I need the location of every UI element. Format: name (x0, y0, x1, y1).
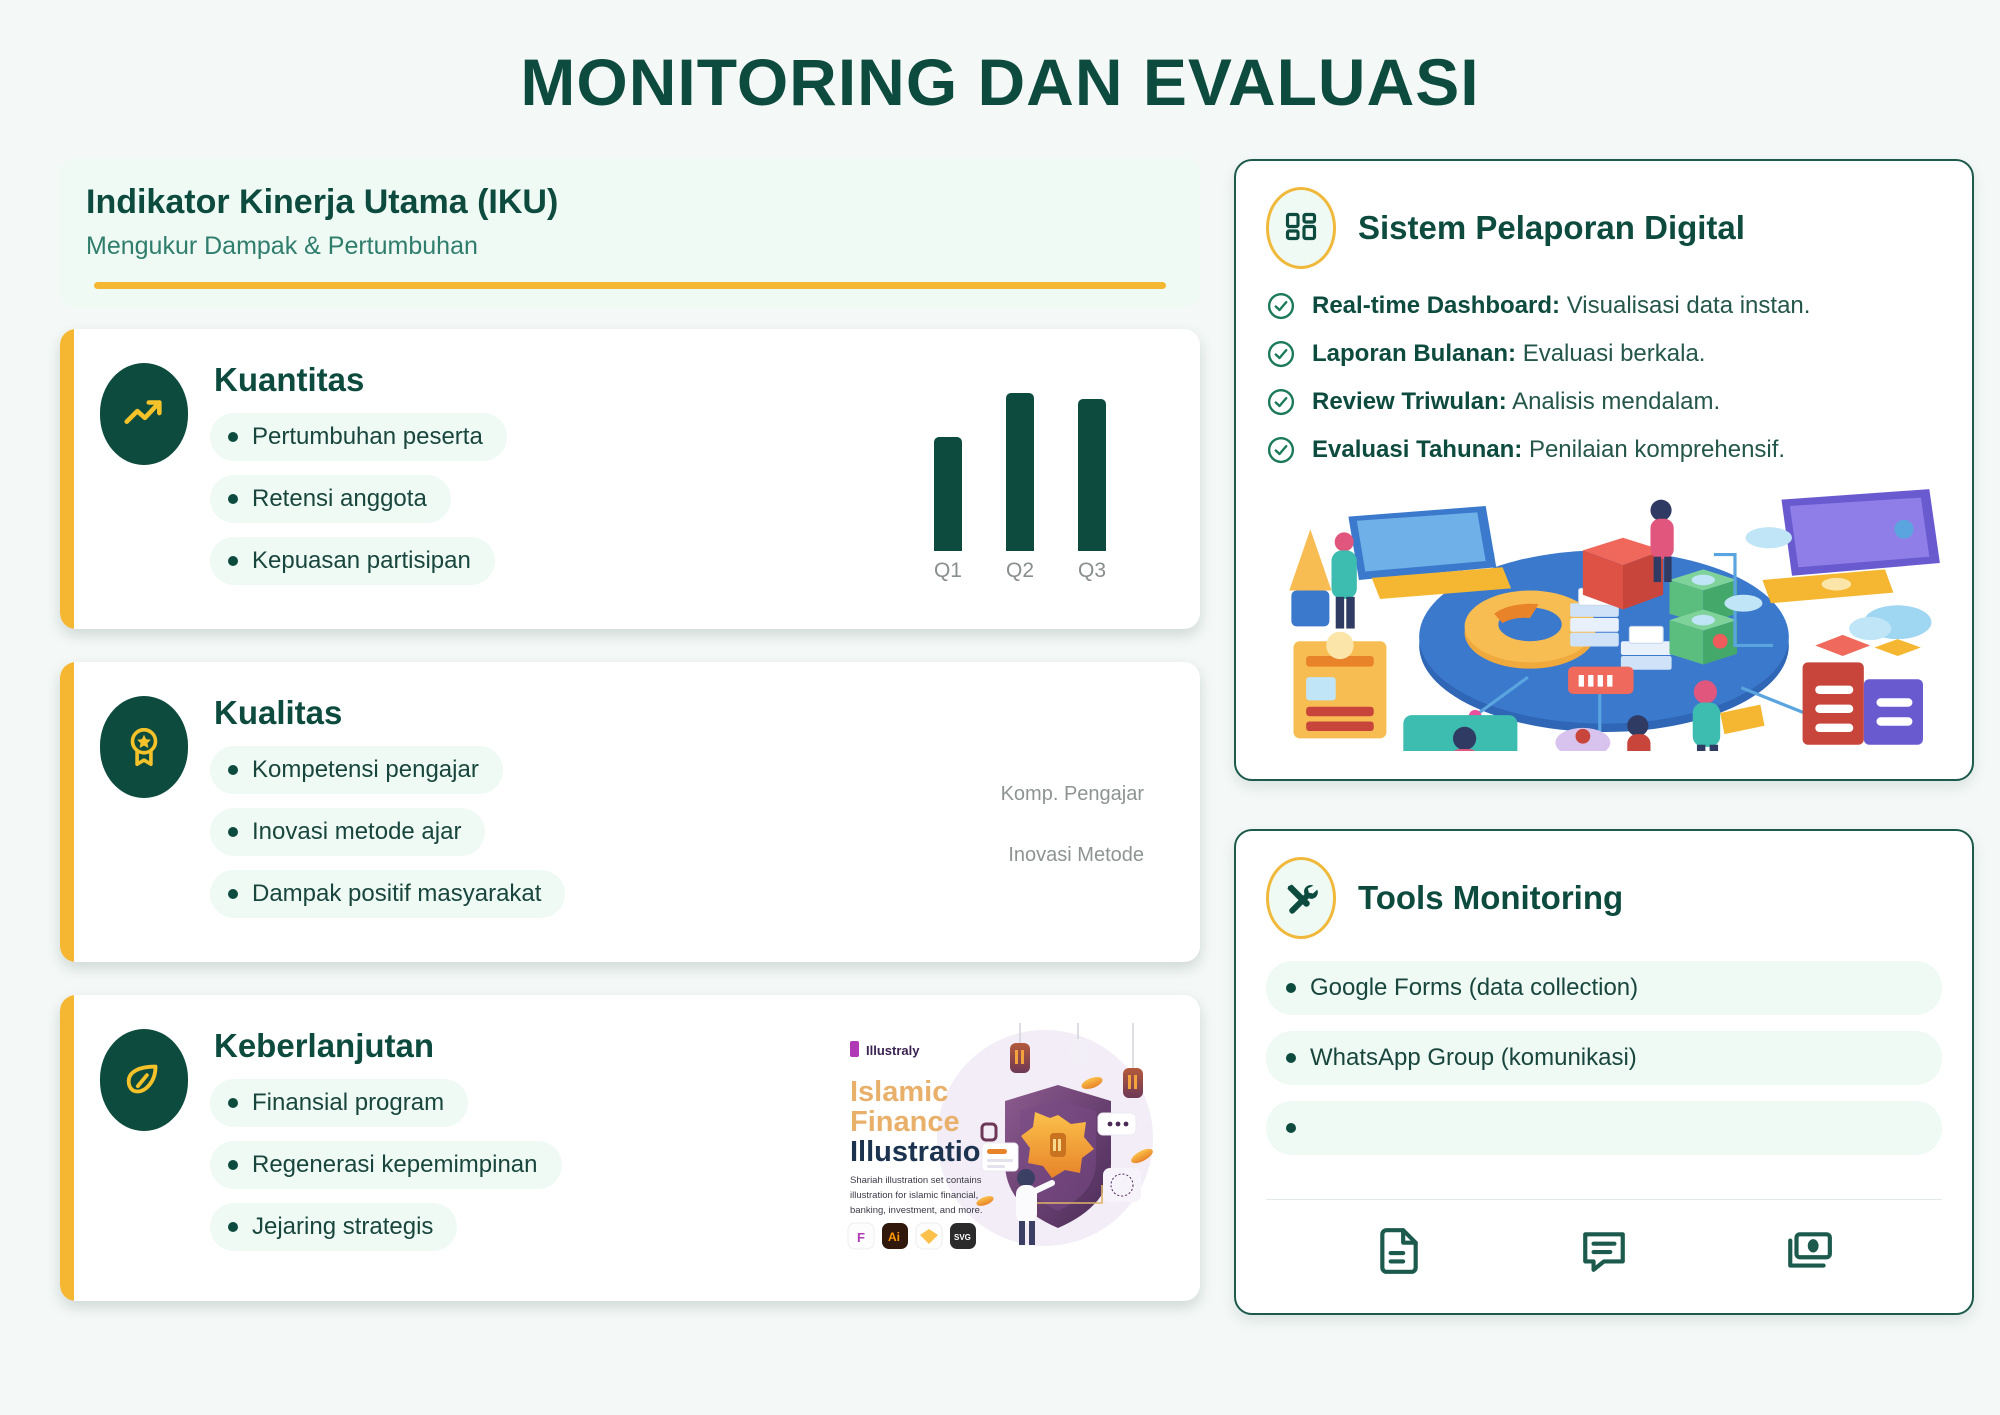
card-accent-bar (60, 662, 74, 962)
list-item[interactable]: Kepuasan partisipan (210, 537, 495, 585)
bullet-icon (1286, 1053, 1296, 1063)
bar-group: Q1 (934, 393, 962, 583)
list-item-label: Dampak positif masyarakat (252, 880, 541, 908)
card-kualitas[interactable]: Kualitas Kompetensi pengajar Inovasi met… (60, 662, 1200, 962)
svg-text:Illustraly: Illustraly (866, 1043, 920, 1058)
list-item-label: Laporan Bulanan: (1312, 340, 1516, 367)
bar (934, 437, 962, 551)
svg-text:F: F (857, 1230, 865, 1245)
list-item-desc: Evaluasi berkala. (1523, 340, 1706, 367)
bullet-icon (228, 432, 238, 442)
bullet-icon (228, 556, 238, 566)
list-item-label: Pertumbuhan peserta (252, 423, 483, 451)
list-item-desc: Visualisasi data instan. (1567, 292, 1811, 319)
svg-text:Islamic: Islamic (850, 1076, 948, 1108)
list-item[interactable]: Review Triwulan: Analisis mendalam. (1266, 387, 1942, 417)
quality-horizontal-bar-chart: Komp. Pengajar Inovasi Metode (870, 690, 1170, 934)
bullet-icon (228, 494, 238, 504)
card-title: Keberlanjutan (214, 1027, 808, 1065)
bar-label: Komp. Pengajar (1001, 783, 1144, 806)
data-analytics-illustration (1266, 487, 1942, 751)
reporting-checklist: Real-time Dashboard: Visualisasi data in… (1266, 291, 1942, 465)
svg-text:Finance: Finance (850, 1106, 960, 1138)
chat-bubble-icon[interactable] (1579, 1226, 1629, 1281)
list-item[interactable]: Retensi anggota (210, 475, 451, 523)
bullet-icon (228, 1098, 238, 1108)
card-accent-bar (60, 995, 74, 1301)
svg-text:SVG: SVG (954, 1233, 971, 1242)
svg-text:illustration for islamic finan: illustration for islamic financial, (850, 1190, 978, 1201)
list-item-label: Real-time Dashboard: (1312, 292, 1560, 319)
list-item[interactable]: Dampak positif masyarakat (210, 870, 565, 918)
page-title: MONITORING DAN EVALUASI (0, 0, 2000, 117)
list-item[interactable]: Regenerasi kepemimpinan (210, 1141, 562, 1189)
svg-text:Illustration: Illustration (850, 1136, 998, 1168)
list-item[interactable]: Pertumbuhan peserta (210, 413, 507, 461)
list-item[interactable]: Kompetensi pengajar (210, 746, 503, 794)
list-item-label: Jejaring strategis (252, 1213, 433, 1241)
bar-label: Q1 (934, 559, 962, 583)
list-item-desc: Penilaian komprehensif. (1529, 436, 1785, 463)
check-circle-icon (1266, 435, 1296, 465)
bar-group: Inovasi Metode (870, 844, 1170, 867)
content-columns: Indikator Kinerja Utama (IKU) Mengukur D… (0, 117, 2000, 1315)
dashboard-grid-icon (1266, 187, 1336, 269)
iku-subtitle: Mengukur Dampak & Pertumbuhan (86, 230, 1174, 263)
check-circle-icon (1266, 339, 1296, 369)
bullet-icon (228, 1222, 238, 1232)
bullet-icon (228, 827, 238, 837)
leaf-icon (100, 1029, 188, 1131)
list-item[interactable]: Google Forms (data collection) (1266, 961, 1942, 1015)
list-item[interactable]: Evaluasi Tahunan: Penilaian komprehensif… (1266, 435, 1942, 465)
check-circle-icon (1266, 291, 1296, 321)
bullet-icon (228, 765, 238, 775)
card-sistem-pelaporan-digital[interactable]: Sistem Pelaporan Digital Real-time Dashb… (1234, 159, 1974, 781)
iku-card-stack: Kuantitas Pertumbuhan peserta Retensi an… (60, 329, 1200, 1301)
card-title: Kualitas (214, 694, 848, 732)
quarterly-bar-chart: Q1 Q2 Q3 (870, 357, 1170, 601)
svg-text:banking, investment, and more.: banking, investment, and more. (850, 1205, 983, 1216)
svg-text:Ai: Ai (888, 1230, 900, 1244)
award-medal-icon (100, 696, 188, 798)
card-item-list: Finansial program Regenerasi kepemimpina… (210, 1079, 808, 1251)
card-keberlanjutan[interactable]: Keberlanjutan Finansial program Regenera… (60, 995, 1200, 1301)
islamic-finance-illustration: Illustraly Islamic Finance Illustration … (830, 1023, 1170, 1273)
list-item-label: Evaluasi Tahunan: (1312, 436, 1522, 463)
list-item[interactable] (1266, 1101, 1942, 1155)
card-tools-monitoring[interactable]: Tools Monitoring Google Forms (data coll… (1234, 829, 1974, 1315)
list-item-label: Regenerasi kepemimpinan (252, 1151, 538, 1179)
list-item-label: Retensi anggota (252, 485, 427, 513)
list-item-label: Kepuasan partisipan (252, 547, 471, 575)
list-item-label: Finansial program (252, 1089, 444, 1117)
iku-accent-rule (94, 282, 1166, 289)
card-title: Tools Monitoring (1358, 879, 1623, 917)
check-circle-icon (1266, 387, 1296, 417)
bar-group: Q2 (1006, 393, 1034, 583)
list-item-desc: Analisis mendalam. (1512, 388, 1720, 415)
bullet-icon (1286, 983, 1296, 993)
card-item-list: Kompetensi pengajar Inovasi metode ajar … (210, 746, 848, 918)
list-item-label: Inovasi metode ajar (252, 818, 461, 846)
bar (1078, 399, 1106, 551)
trending-up-icon (100, 363, 188, 465)
list-item-label: Kompetensi pengajar (252, 756, 479, 784)
bar-label: Inovasi Metode (1008, 844, 1144, 867)
bar-group: Q3 (1078, 393, 1106, 583)
tools-list: Google Forms (data collection) WhatsApp … (1266, 961, 1942, 1155)
document-icon[interactable] (1374, 1226, 1424, 1281)
card-title: Sistem Pelaporan Digital (1358, 209, 1745, 247)
list-item[interactable]: Inovasi metode ajar (210, 808, 485, 856)
right-column: Sistem Pelaporan Digital Real-time Dashb… (1234, 159, 1974, 1315)
card-kuantitas[interactable]: Kuantitas Pertumbuhan peserta Retensi an… (60, 329, 1200, 629)
iku-header: Indikator Kinerja Utama (IKU) Mengukur D… (60, 159, 1200, 307)
list-item-label: WhatsApp Group (komunikasi) (1310, 1044, 1637, 1072)
list-item[interactable]: WhatsApp Group (komunikasi) (1266, 1031, 1942, 1085)
bullet-icon (228, 1160, 238, 1170)
bullet-icon (228, 889, 238, 899)
list-item[interactable]: Jejaring strategis (210, 1203, 457, 1251)
left-column: Indikator Kinerja Utama (IKU) Mengukur D… (60, 159, 1200, 1301)
bar-label: Q2 (1006, 559, 1034, 583)
list-item-label: Google Forms (data collection) (1310, 974, 1638, 1002)
card-accent-bar (60, 329, 74, 629)
list-item[interactable]: Laporan Bulanan: Evaluasi berkala. (1266, 339, 1942, 369)
bar-label: Q3 (1078, 559, 1106, 583)
tools-wrench-hammer-icon (1266, 857, 1336, 939)
card-title: Kuantitas (214, 361, 848, 399)
tools-footer-icons (1266, 1200, 1942, 1285)
list-item-label: Review Triwulan: (1312, 388, 1507, 415)
bar-group: Komp. Pengajar (870, 783, 1170, 806)
bullet-icon (1286, 1123, 1296, 1133)
banknote-icon[interactable] (1784, 1226, 1834, 1281)
svg-text:Shariah illustration set conta: Shariah illustration set contains (850, 1175, 982, 1186)
bar (1006, 393, 1034, 551)
card-item-list: Pertumbuhan peserta Retensi anggota Kepu… (210, 413, 848, 585)
list-item[interactable]: Finansial program (210, 1079, 468, 1127)
infographic-page: MONITORING DAN EVALUASI Indikator Kinerj… (0, 0, 2000, 1415)
list-item[interactable]: Real-time Dashboard: Visualisasi data in… (1266, 291, 1942, 321)
iku-title: Indikator Kinerja Utama (IKU) (86, 181, 1174, 224)
